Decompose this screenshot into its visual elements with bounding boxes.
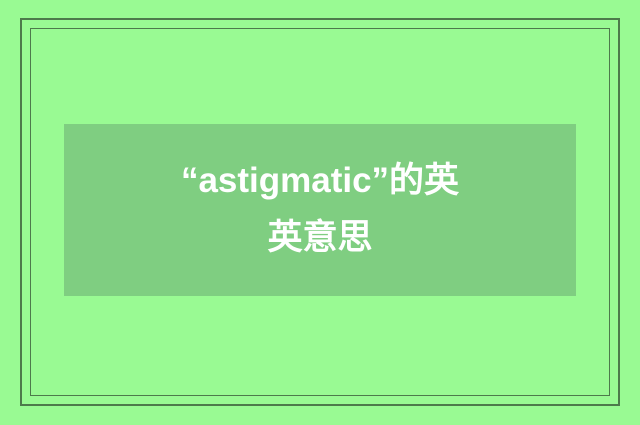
page-title: “astigmatic”的英英意思 bbox=[164, 153, 476, 266]
title-band: “astigmatic”的英英意思 bbox=[64, 124, 576, 296]
poster-canvas: “astigmatic”的英英意思 bbox=[0, 0, 640, 425]
